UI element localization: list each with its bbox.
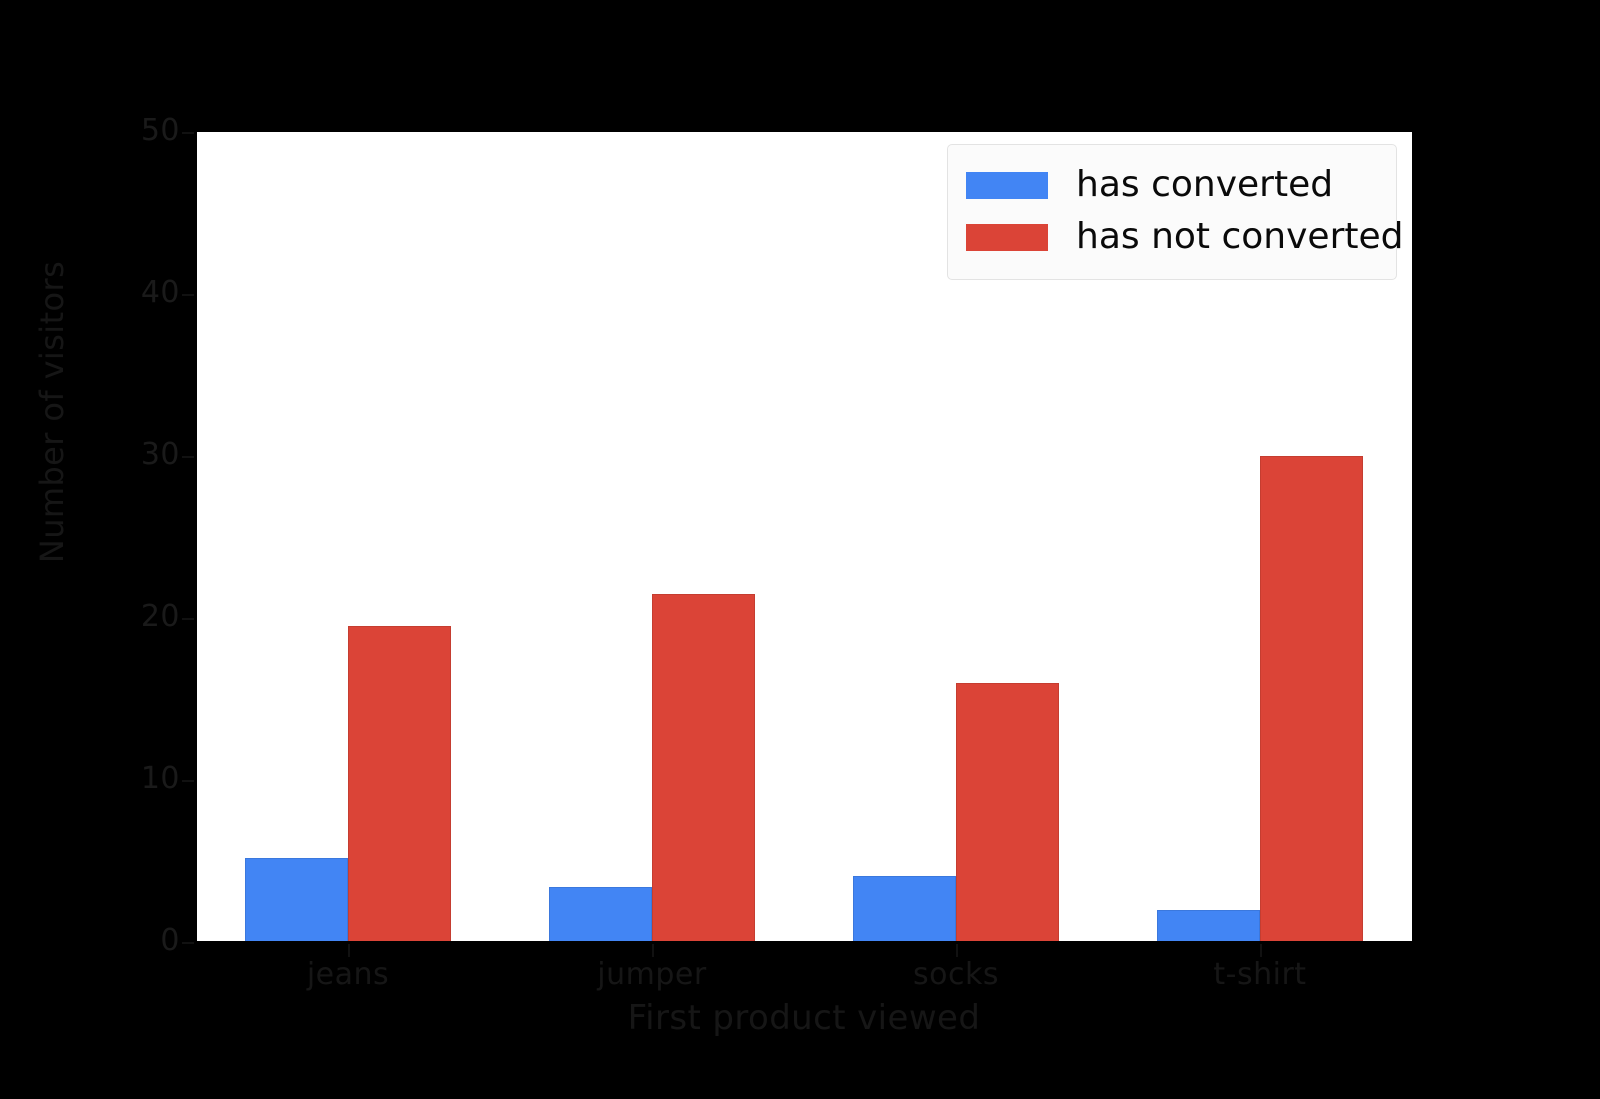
bar[interactable]: [853, 876, 956, 942]
legend-item-has-not-converted[interactable]: has not converted: [966, 211, 1378, 263]
legend-item-has-converted[interactable]: has converted: [966, 159, 1378, 211]
y-tick-label: 0: [100, 926, 180, 956]
bar[interactable]: [348, 626, 451, 942]
y-axis-title: Number of visitors: [34, 152, 70, 672]
y-axis-line: [195, 132, 197, 943]
bar[interactable]: [956, 683, 1059, 942]
x-tick-mark: [348, 944, 350, 957]
y-tick-mark: [182, 942, 194, 944]
x-axis-title: First product viewed: [196, 998, 1412, 1038]
y-tick-mark: [182, 780, 194, 782]
x-tick-mark: [1260, 944, 1262, 957]
figure-canvas: 01020304050 jeansjumpersockst-shirt Numb…: [0, 0, 1600, 1099]
x-tick-label: socks: [806, 958, 1106, 992]
legend-label-has-not-converted: has not converted: [1076, 217, 1403, 257]
y-tick-mark: [182, 456, 194, 458]
legend-swatch-has-converted: [966, 172, 1048, 199]
x-tick-label: jumper: [502, 958, 802, 992]
x-tick-label: jeans: [198, 958, 498, 992]
y-tick-label: 50: [100, 116, 180, 146]
bar[interactable]: [549, 887, 652, 942]
y-tick-mark: [182, 132, 194, 134]
bar[interactable]: [245, 858, 348, 942]
bar-group: [500, 132, 804, 942]
x-tick-mark: [652, 944, 654, 957]
y-tick-label: 30: [100, 440, 180, 470]
legend-label-has-converted: has converted: [1076, 165, 1333, 205]
bar[interactable]: [1157, 910, 1260, 942]
legend[interactable]: has converted has not converted: [947, 144, 1397, 280]
x-tick-label: t-shirt: [1110, 958, 1410, 992]
bar-group: [196, 132, 500, 942]
y-tick-label: 40: [100, 278, 180, 308]
y-tick-label: 20: [100, 602, 180, 632]
x-axis-line: [195, 941, 1413, 944]
y-tick-label: 10: [100, 764, 180, 794]
x-tick-mark: [956, 944, 958, 957]
bar[interactable]: [1260, 456, 1363, 942]
y-tick-mark: [182, 294, 194, 296]
y-tick-mark: [182, 618, 194, 620]
bar[interactable]: [652, 594, 755, 942]
legend-swatch-has-not-converted: [966, 224, 1048, 251]
